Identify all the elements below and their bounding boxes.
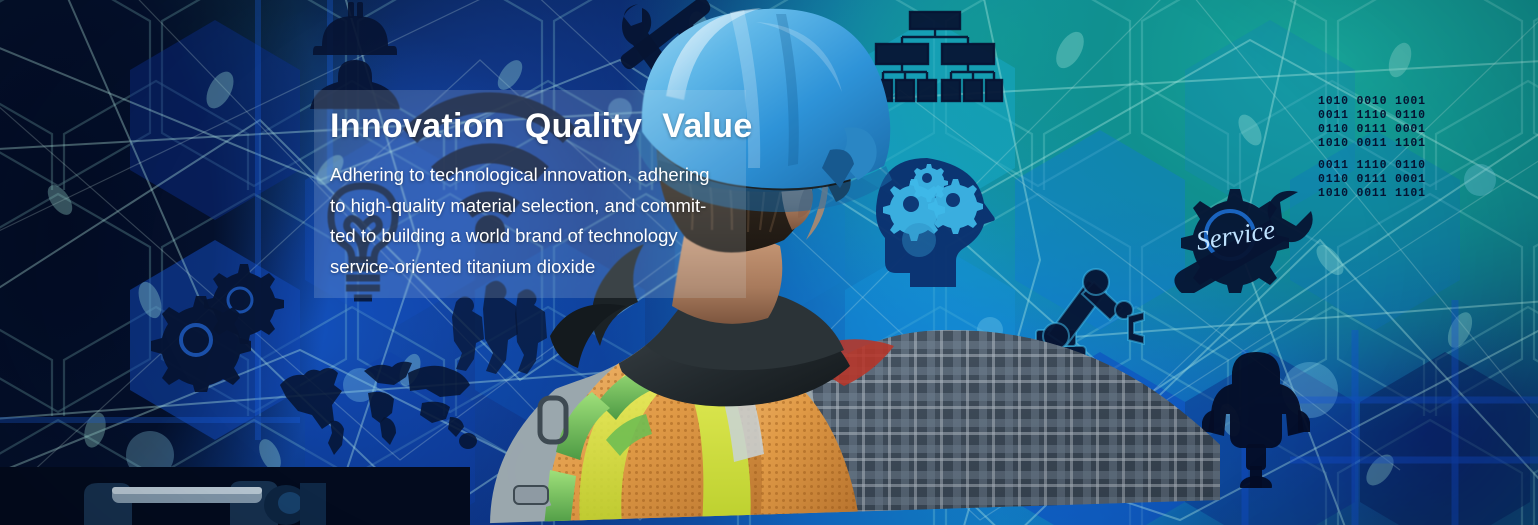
description-line: service-oriented titanium dioxide [330, 252, 730, 283]
binary-line: 0011 1110 0110 [1318, 109, 1426, 122]
hero-banner: Service 1010 0010 1001 0011 1110 0110 01… [0, 0, 1538, 525]
binary-line: 0011 1110 0110 [1318, 159, 1426, 172]
binary-line: 0010 1001 0001 [1318, 201, 1426, 202]
machinery-silhouette [0, 453, 470, 525]
headline-word-3: Value [662, 104, 752, 148]
page-description: Adhering to technological innovation, ad… [330, 160, 730, 282]
headline-word-1: Innovation [330, 104, 505, 148]
binary-line: 1010 0011 1101 [1318, 137, 1426, 150]
description-line: ted to building a world brand of technol… [330, 221, 730, 252]
description-line: Adhering to technological innovation, ad… [330, 160, 730, 191]
page-title: InnovationQualityValue [330, 104, 750, 148]
description-line: to high-quality material selection, and … [330, 191, 730, 222]
binary-line: 1010 0011 1101 [1318, 187, 1426, 200]
gears-icon [148, 262, 288, 392]
headline-word-2: Quality [525, 104, 642, 148]
binary-line: 1010 0010 1001 [1318, 95, 1426, 108]
binary-line: 0110 0111 0001 [1318, 173, 1426, 186]
binary-code-icon: 1010 0010 1001 0011 1110 0110 0110 0111 … [1318, 92, 1448, 202]
binary-line: 0110 0111 0001 [1318, 123, 1426, 136]
